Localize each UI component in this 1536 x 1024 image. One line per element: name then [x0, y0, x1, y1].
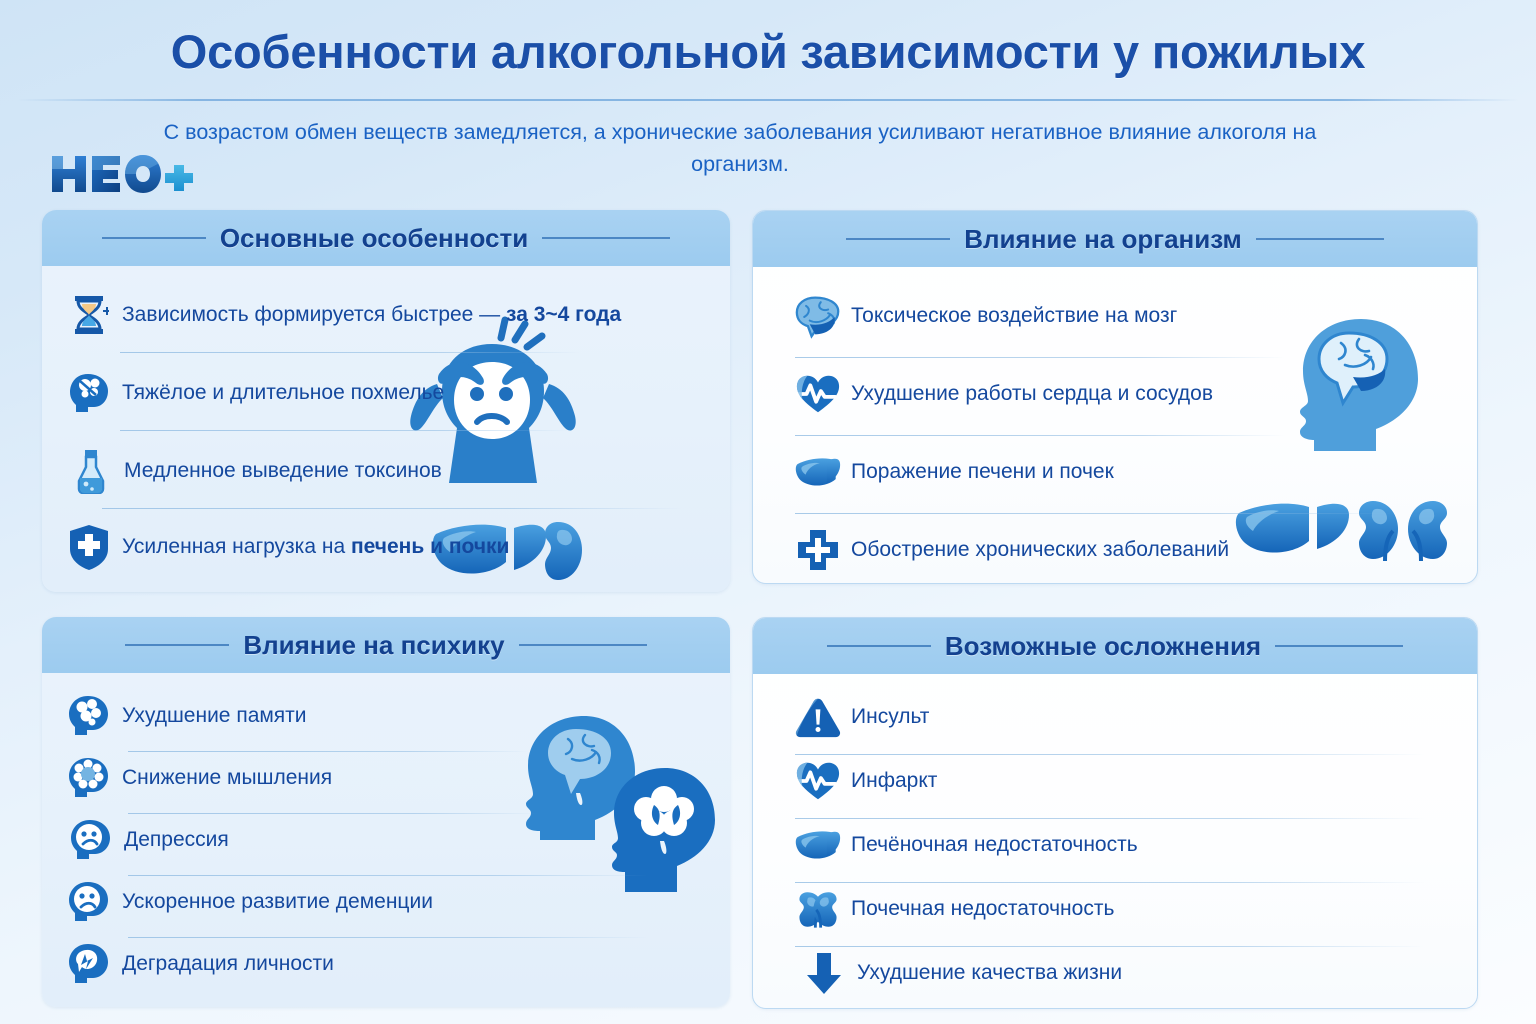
row-separator: [128, 751, 528, 752]
hourglass-icon: [66, 292, 112, 338]
card-body: Ухудшение памяти С: [42, 673, 730, 1007]
list-item-label: Токсическое воздействие на мозг: [851, 304, 1177, 328]
list-item[interactable]: Обострение хронических заболеваний: [795, 527, 1229, 573]
header-rule-left: [125, 644, 229, 646]
list-item-label: Почечная недостаточность: [851, 897, 1114, 921]
list-item[interactable]: Печёночная недостаточность: [795, 822, 1138, 868]
page-subtitle: С возрастом обмен веществ замедляется, а…: [150, 116, 1330, 180]
head-sad-face-icon: [68, 817, 114, 863]
header-rule-left: [827, 645, 931, 647]
list-item-label: Депрессия: [124, 828, 229, 852]
head-degradation-icon: [66, 941, 112, 987]
list-item-label: Обострение хронических заболеваний: [851, 538, 1229, 562]
list-item[interactable]: Токсическое воздействие на мозг: [795, 293, 1177, 339]
card-title: Влияние на психику: [243, 630, 504, 661]
list-item-label: Усиленная нагрузка на печень и почки: [122, 535, 509, 559]
flask-icon: [68, 448, 114, 494]
down-arrow-icon: [801, 950, 847, 996]
list-item[interactable]: Ухудшение качества жизни: [801, 950, 1122, 996]
card-body: Зависимость формируется быстрее — за 3~4…: [42, 266, 730, 592]
card-header: Основные особенности: [42, 210, 730, 266]
list-item[interactable]: Усиленная нагрузка на печень и почки: [66, 524, 509, 570]
card-body: Токсическое воздействие на мозг Ухудшени…: [753, 267, 1477, 583]
list-item-label: Ухудшение памяти: [122, 704, 307, 728]
list-item-label: Инфаркт: [851, 769, 937, 793]
card-title: Возможные осложнения: [945, 631, 1261, 662]
card-header: Влияние на организм: [753, 211, 1477, 267]
head-brain-icon: [1283, 315, 1443, 460]
row-separator: [128, 813, 538, 814]
card-title: Влияние на организм: [964, 224, 1241, 255]
list-item[interactable]: Депрессия: [68, 817, 229, 863]
neo-plus-logo[interactable]: [48, 150, 208, 198]
card-complications: Возможные осложнения Инсульт: [752, 617, 1478, 1009]
liver-icon: [795, 822, 841, 868]
list-item-label: Инсульт: [851, 705, 929, 729]
shield-cross-icon: [66, 524, 112, 570]
header-rule-left: [846, 238, 950, 240]
head-brain-cloud-icon: [602, 765, 730, 900]
row-separator: [795, 818, 1425, 819]
medical-cross-icon: [795, 527, 841, 573]
list-item[interactable]: Зависимость формируется быстрее — за 3~4…: [66, 292, 621, 338]
list-item-label: Печёночная недостаточность: [851, 833, 1138, 857]
liver-kidneys-icon: [1233, 497, 1463, 572]
list-item-label: Ухудшение качества жизни: [857, 961, 1122, 985]
row-separator: [120, 352, 580, 353]
list-item[interactable]: Поражение печени и почек: [795, 449, 1114, 495]
heart-pulse-icon: [795, 758, 841, 804]
card-title: Основные особенности: [220, 223, 528, 254]
card-header: Возможные осложнения: [753, 618, 1477, 674]
list-item[interactable]: Деградация личности: [66, 941, 334, 987]
infographic-canvas: Особенности алкогольной зависимости у по…: [0, 0, 1536, 1024]
row-separator: [120, 430, 570, 431]
heart-pulse-icon: [795, 371, 841, 417]
row-separator: [128, 875, 648, 876]
page-title: Особенности алкогольной зависимости у по…: [0, 24, 1536, 79]
warning-triangle-icon: [795, 694, 841, 740]
head-hangover-icon: [66, 370, 112, 416]
list-item-label: Деградация личности: [122, 952, 334, 976]
header-rule-right: [542, 237, 670, 239]
card-body-impact: Влияние на организм: [752, 210, 1478, 584]
list-item-label: Тяжёлое и длительное похмелье: [122, 381, 444, 405]
row-separator: [102, 508, 682, 509]
list-item[interactable]: Ухудшение памяти: [66, 693, 307, 739]
liver-icon: [795, 449, 841, 495]
row-separator: [795, 946, 1425, 947]
head-dementia-icon: [66, 879, 112, 925]
card-header: Влияние на психику: [42, 617, 730, 673]
row-separator: [795, 357, 1285, 358]
list-item-label: Ухудшение работы сердца и сосудов: [851, 382, 1213, 406]
header-rule-left: [102, 237, 206, 239]
list-item-label: Медленное выведение токсинов: [124, 459, 442, 483]
brain-icon: [795, 293, 841, 339]
list-item[interactable]: Ускоренное развитие деменции: [66, 879, 433, 925]
row-separator: [795, 754, 1425, 755]
card-body: Инсульт Инфаркт: [753, 674, 1477, 1008]
list-item[interactable]: Снижение мышления: [66, 755, 332, 801]
list-item[interactable]: Медленное выведение токсинов: [68, 448, 442, 494]
title-divider: [18, 99, 1518, 101]
header-rule-right: [1275, 645, 1403, 647]
list-item[interactable]: Инфаркт: [795, 758, 937, 804]
list-item[interactable]: Ухудшение работы сердца и сосудов: [795, 371, 1213, 417]
card-main-features: Основные особенности: [42, 210, 730, 592]
row-separator: [795, 882, 1425, 883]
kidneys-icon: [795, 886, 841, 932]
head-memory-icon: [66, 693, 112, 739]
list-item-label: Зависимость формируется быстрее — за 3~4…: [122, 303, 621, 327]
row-separator: [128, 937, 648, 938]
row-separator: [795, 513, 1395, 514]
header-rule-right: [1256, 238, 1384, 240]
list-item[interactable]: Почечная недостаточность: [795, 886, 1114, 932]
list-item[interactable]: Тяжёлое и длительное похмелье: [66, 370, 444, 416]
card-psyche-impact: Влияние на психику: [42, 617, 730, 1007]
list-item-label: Ускоренное развитие деменции: [122, 890, 433, 914]
head-thinking-icon: [66, 755, 112, 801]
header-rule-right: [519, 644, 647, 646]
list-item[interactable]: Инсульт: [795, 694, 929, 740]
row-separator: [795, 435, 1285, 436]
list-item-label: Поражение печени и почек: [851, 460, 1114, 484]
list-item-label: Снижение мышления: [122, 766, 332, 790]
